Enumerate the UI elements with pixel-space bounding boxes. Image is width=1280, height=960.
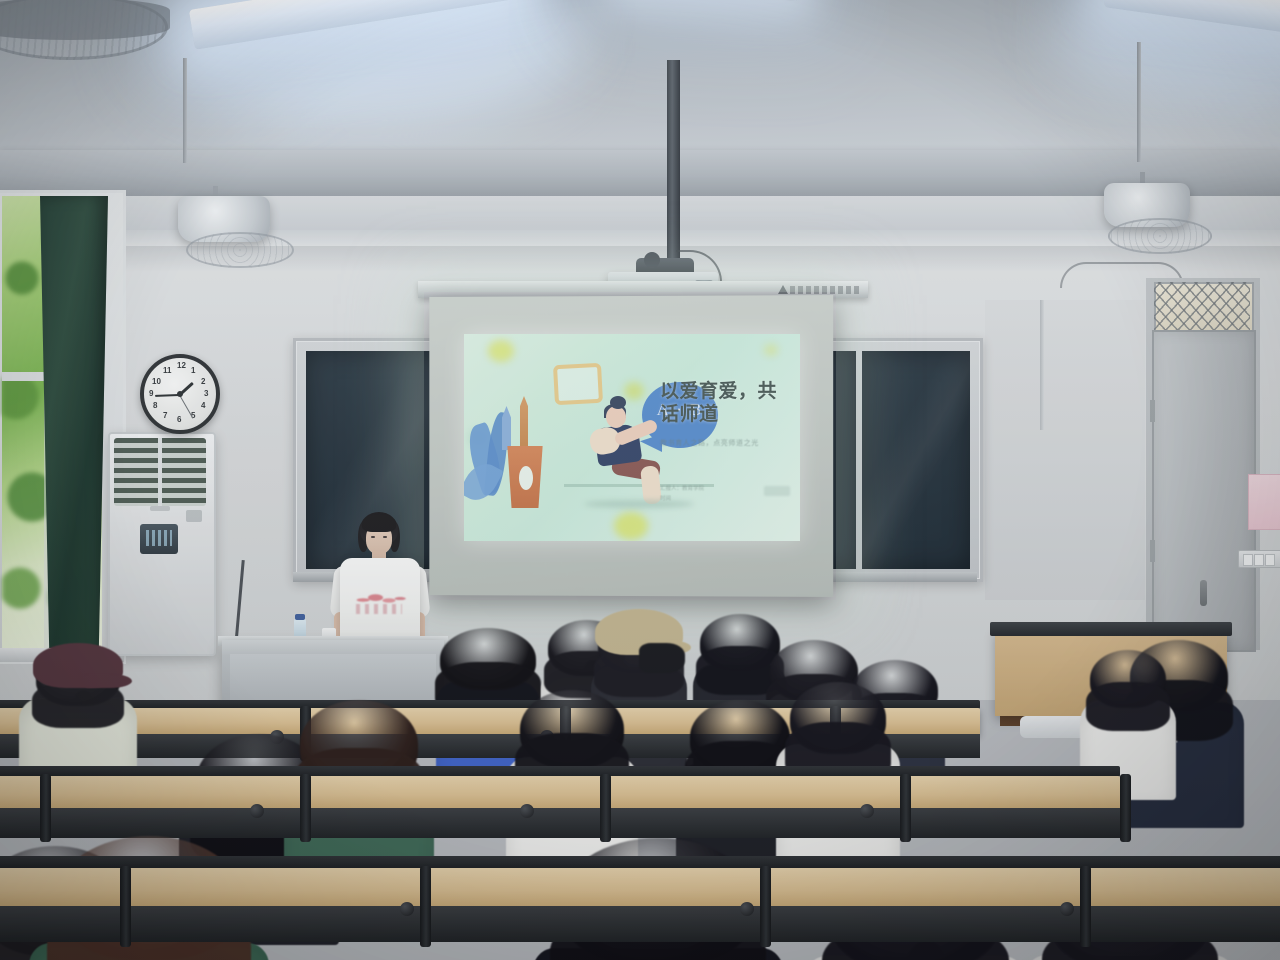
desk-front-panel [0, 808, 1120, 838]
classroom-photo: A · B 以爱育爱，共话师道 教书育人之路，点亮师道之光 汇报人：教育学院 时… [0, 0, 1280, 960]
desk-knob [740, 902, 754, 916]
desk-leg [900, 774, 911, 842]
desk-knob [860, 804, 874, 818]
student-face-mask [639, 643, 685, 673]
desk-leg [420, 866, 431, 948]
desk-leg [1120, 774, 1131, 842]
desk-knob [520, 804, 534, 818]
desk-leg [600, 774, 611, 842]
desk-leg [300, 774, 311, 842]
desk-surface [0, 776, 1120, 810]
desk-leg [40, 774, 51, 842]
student-hair-fall [1086, 682, 1170, 731]
student-cap-brim [85, 674, 132, 689]
desk-knob [1060, 902, 1074, 916]
desk-leg [120, 866, 131, 948]
desk-leg [1080, 866, 1091, 948]
desk-knob [400, 902, 414, 916]
desk-knob [250, 804, 264, 818]
desk-leg [760, 866, 771, 948]
seating-area: R' [0, 0, 1280, 960]
